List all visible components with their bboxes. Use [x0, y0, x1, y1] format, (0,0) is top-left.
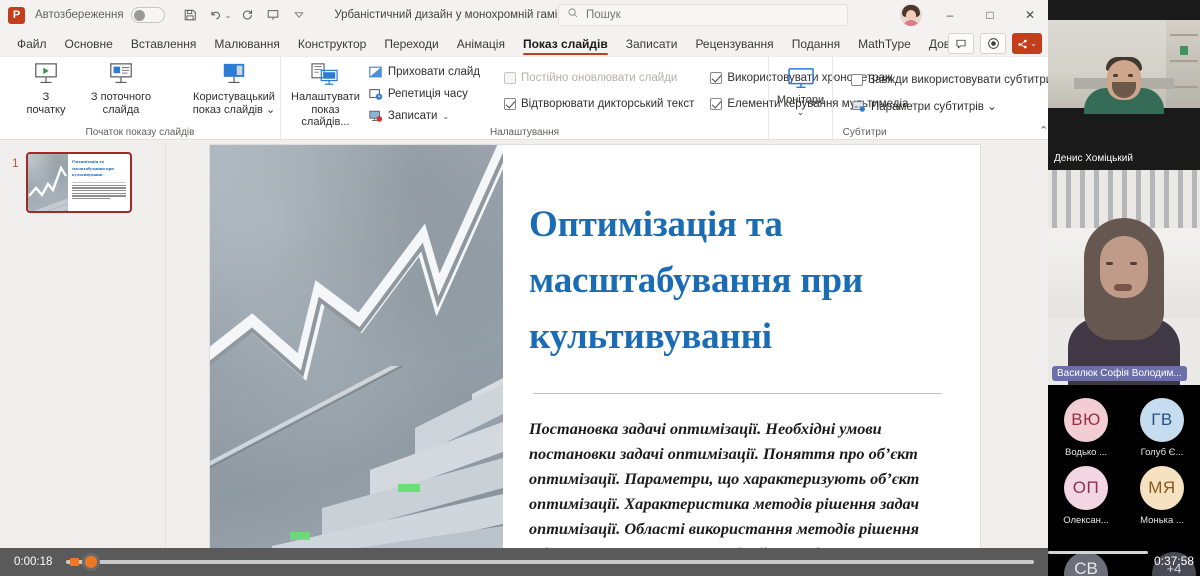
avatar-name-2: Голуб Є...	[1141, 447, 1184, 458]
avatar-name-3: Олексан...	[1063, 515, 1109, 526]
slide-title[interactable]: Оптимізація та масштабування при культив…	[529, 197, 946, 365]
chevron-up-icon[interactable]: ⌃	[1039, 124, 1048, 137]
start-from-current-label-line2: слайда	[103, 104, 140, 117]
ribbon-group-start-slideshow: З початку З поточного слайда Користуваць…	[0, 57, 280, 141]
user-avatar[interactable]	[900, 4, 922, 26]
record-slideshow-label: Записати	[388, 110, 438, 122]
custom-show-icon	[218, 62, 250, 88]
always-use-subtitles-label: Завжди використовувати субтитри	[868, 74, 1052, 86]
playback-track[interactable]	[66, 560, 1034, 564]
participant-avatar-grid: ВЮ Водько ... ГВ Голуб Є... ОП Олексан..…	[1048, 390, 1200, 526]
autosave-label: Автозбереження	[35, 9, 124, 21]
subtitle-settings-button[interactable]: Параметри субтитрів ⌄	[847, 93, 1056, 119]
record-caret-icon[interactable]: ⌄	[442, 112, 449, 121]
rehearse-timings-icon	[368, 87, 383, 101]
subtitles-controls: Завжди використовувати субтитри Параметр…	[847, 57, 1056, 119]
search-icon	[567, 6, 579, 24]
checkbox-box	[504, 98, 516, 110]
keep-slides-updated-label: Постійно оновлювати слайди	[521, 72, 677, 84]
tab-design[interactable]: Конструктор	[289, 35, 375, 56]
ribbon-group-subtitles: Завжди використовувати субтитри Параметр…	[832, 57, 1056, 141]
avatar-tile-4[interactable]: МЯ Монька ...	[1124, 458, 1200, 526]
workspace: 1 Оптимізація та	[0, 141, 1048, 576]
setup-small-buttons: Приховати слайд Репетиція часу Записати …	[364, 57, 484, 127]
ribbon-right-buttons: ⌄	[948, 33, 1042, 54]
playback-current-time: 0:00:18	[14, 556, 52, 568]
start-from-beginning-label-line2: початку	[27, 104, 66, 117]
avatar-row-1: ВЮ Водько ... ГВ Голуб Є...	[1048, 390, 1200, 458]
rising-arrow-graphic	[210, 145, 503, 395]
slide-divider	[533, 393, 942, 394]
checkbox-box	[504, 72, 516, 84]
stairs-graphic	[210, 366, 503, 576]
checkbox-box	[710, 98, 722, 110]
monitor-icon	[786, 67, 816, 91]
powerpoint-logo-icon: P	[8, 7, 25, 24]
avatar-initials-4: МЯ	[1140, 466, 1184, 510]
search-input[interactable]	[586, 9, 816, 21]
powerpoint-app: P Автозбереження ⌄ Урбаністичний дизайн …	[0, 0, 1048, 576]
custom-slideshow-label-line1: Користувацький	[193, 91, 275, 104]
monitors-caret-icon[interactable]: ⌄	[797, 106, 805, 119]
avatar-initials-2: ГВ	[1140, 398, 1184, 442]
tab-draw[interactable]: Малювання	[205, 35, 288, 56]
thumbnail-item[interactable]: 1 Оптимізація та	[12, 152, 132, 213]
video-tile-participant-2[interactable]: Василюк Софія Володим...	[1048, 170, 1200, 385]
custom-slideshow-button[interactable]: Користувацький показ слайдів ⌄	[188, 57, 280, 116]
playback-bar: 0:00:18	[0, 548, 1048, 576]
participant-name-2: Василюк Софія Володим...	[1052, 366, 1187, 381]
tab-view[interactable]: Подання	[783, 35, 849, 56]
monitors-button[interactable]: Монітори ⌄	[769, 57, 832, 118]
rehearse-timings-label: Репетиція часу	[388, 88, 468, 100]
avatar-initials-1: ВЮ	[1064, 398, 1108, 442]
meeting-timer: 0:37:58	[1154, 554, 1194, 568]
customize-quick-access-icon[interactable]	[286, 4, 312, 26]
group-label-start-slideshow: Початок показу слайдів	[0, 127, 280, 138]
comment-icon[interactable]	[948, 33, 974, 54]
custom-slideshow-label-line2: показ слайдів ⌄	[193, 104, 275, 117]
play-narrations-label: Відтворювати дикторський текст	[521, 98, 694, 110]
ribbon-tabs: Файл Основне Вставлення Малювання Констр…	[0, 30, 1048, 56]
playback-marker	[70, 558, 79, 566]
subtitle-settings-icon	[851, 99, 866, 113]
minimize-button[interactable]: –	[928, 0, 972, 30]
tab-file[interactable]: Файл	[8, 35, 56, 56]
powerpoint-meeting-window: P Автозбереження ⌄ Урбаністичний дизайн …	[0, 0, 1200, 576]
avatar-tile-1[interactable]: ВЮ Водько ...	[1048, 390, 1124, 458]
subtitle-settings-label: Параметри субтитрів ⌄	[871, 99, 997, 113]
slide-canvas[interactable]: Оптимізація та масштабування при культив…	[210, 145, 980, 576]
start-from-beginning-label-line1: З	[43, 91, 50, 104]
checkbox-box	[851, 74, 863, 86]
maximize-button[interactable]: □	[968, 0, 1012, 30]
hide-slide-icon	[368, 65, 383, 79]
tab-home[interactable]: Основне	[56, 35, 122, 56]
play-from-current-icon	[106, 62, 136, 88]
hide-slide-label: Приховати слайд	[388, 66, 480, 78]
search-box[interactable]	[558, 4, 848, 26]
record-icon[interactable]	[980, 33, 1006, 54]
undo-caret-icon[interactable]: ⌄	[225, 11, 232, 20]
avatar-tile-3[interactable]: ОП Олексан...	[1048, 458, 1124, 526]
thumbnail-title: Оптимізація та масштабування при культив…	[72, 159, 126, 179]
slide-body-text[interactable]: Постановка задачі оптимізації. Необхідні…	[529, 416, 946, 566]
slide-editing-area: Оптимізація та масштабування при культив…	[166, 141, 1048, 576]
avatar-tile-2[interactable]: ГВ Голуб Є...	[1124, 390, 1200, 458]
checkbox-box	[710, 72, 722, 84]
hide-slide-button[interactable]: Приховати слайд	[364, 61, 484, 83]
setup-slideshow-label-line2: показ слайдів...	[291, 104, 360, 129]
keep-slides-updated-checkbox[interactable]: Постійно оновлювати слайди	[500, 65, 698, 91]
ribbon-body: З початку З поточного слайда Користуваць…	[0, 56, 1048, 140]
avatar-tile-5[interactable]: СВ	[1064, 552, 1108, 576]
setup-checkbox-column-1: Постійно оновлювати слайди Відтворювати …	[500, 57, 698, 117]
tab-mathtype[interactable]: MathType	[849, 35, 920, 56]
background-object	[1180, 46, 1188, 55]
video-seek-bar[interactable]	[1048, 551, 1148, 554]
start-from-current-label-line1: З поточного	[91, 91, 151, 104]
record-slideshow-icon	[368, 109, 383, 123]
share-caret-icon: ⌄	[1030, 39, 1037, 48]
play-narrations-checkbox[interactable]: Відтворювати дикторський текст	[500, 91, 698, 117]
group-label-subtitles: Субтитри	[673, 127, 1056, 138]
thumbnail-number: 1	[12, 152, 26, 170]
play-from-start-icon	[31, 62, 61, 88]
avatar-row-2: ОП Олексан... МЯ Монька ...	[1048, 458, 1200, 526]
avatar-name-1: Водько ...	[1065, 447, 1107, 458]
setup-show-icon	[309, 62, 341, 88]
share-icon[interactable]: ⌄	[1012, 33, 1042, 54]
rehearse-timings-button[interactable]: Репетиція часу	[364, 83, 484, 105]
background-shelf	[1166, 20, 1200, 108]
tab-review[interactable]: Рецензування	[686, 35, 782, 56]
tab-insert[interactable]: Вставлення	[122, 35, 206, 56]
participant-name-1: Денис Хоміцький	[1054, 153, 1133, 164]
setup-slideshow-button[interactable]: Налаштувати показ слайдів...	[291, 57, 360, 129]
record-slideshow-button[interactable]: Записати ⌄	[364, 105, 484, 127]
start-from-current-slide-button[interactable]: З поточного слайда	[78, 57, 164, 116]
always-use-subtitles-checkbox[interactable]: Завжди використовувати субтитри	[847, 67, 1056, 93]
video-tile-participant-1[interactable]: Денис Хоміцький	[1048, 0, 1200, 170]
tab-record[interactable]: Записати	[617, 35, 687, 56]
slide-picture[interactable]	[210, 145, 503, 576]
tab-animations[interactable]: Анімація	[448, 35, 514, 56]
slide-thumbnail-pane: 1 Оптимізація та	[0, 141, 166, 576]
title-bar: P Автозбереження ⌄ Урбаністичний дизайн …	[0, 0, 1048, 30]
playback-scrubber[interactable]	[82, 553, 100, 571]
setup-slideshow-label-line1: Налаштувати	[291, 91, 360, 104]
close-button[interactable]: ✕	[1008, 0, 1052, 30]
thumbnail-text: Оптимізація та масштабування при культив…	[68, 154, 130, 211]
tab-slideshow[interactable]: Показ слайдів	[514, 35, 617, 56]
start-from-beginning-button[interactable]: З початку	[14, 57, 78, 116]
save-icon[interactable]	[177, 4, 203, 26]
avatar-name-4: Монька ...	[1140, 515, 1184, 526]
redo-icon[interactable]	[234, 4, 260, 26]
thumbnail-body-lines	[72, 185, 126, 200]
present-icon[interactable]	[260, 4, 286, 26]
avatar-initials-3: ОП	[1064, 466, 1108, 510]
autosave-toggle[interactable]	[131, 7, 165, 23]
thumbnail-image	[28, 154, 68, 211]
slide-text-area[interactable]: Оптимізація та масштабування при культив…	[503, 145, 980, 576]
thumbnail-rule	[72, 182, 126, 183]
slide-thumbnail-1[interactable]: Оптимізація та масштабування при культив…	[26, 152, 132, 213]
video-call-sidebar: Денис Хоміцький Василюк Софія Володим...…	[1048, 0, 1200, 576]
tab-transitions[interactable]: Переходи	[375, 35, 447, 56]
